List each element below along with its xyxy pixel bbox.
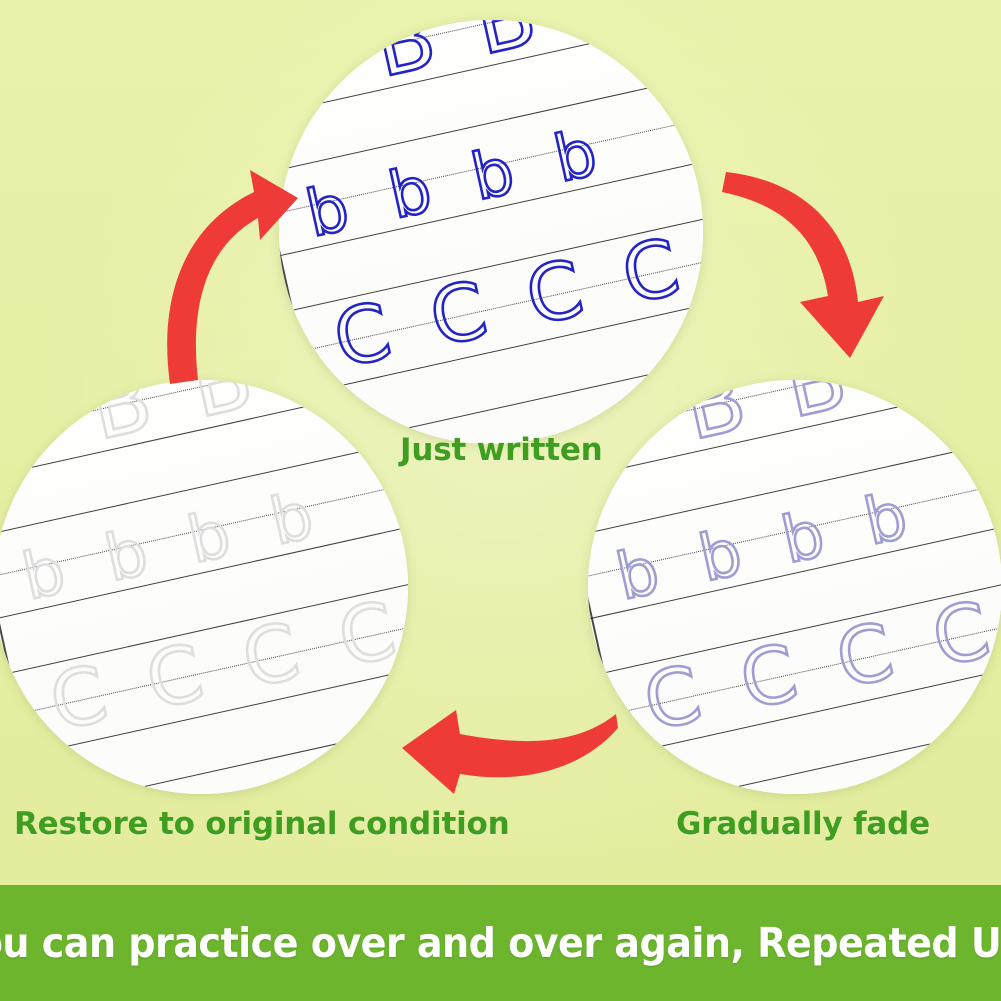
traced-letter-b: b	[384, 158, 438, 229]
photo-restore-original: BBBB bbbb CCCC	[0, 380, 408, 794]
infographic-root: BBBB bbbb CCCC BBBB bbbb CCCC	[0, 0, 1001, 1001]
traced-letter-B: B	[468, 20, 544, 68]
traced-letter-b: b	[100, 521, 154, 592]
traced-letter-b: b	[611, 539, 665, 610]
traced-letter-B: B	[367, 20, 443, 91]
traced-letter-C: C	[830, 613, 900, 701]
arrow-fade-to-restore-icon	[390, 702, 620, 792]
arrow-written-to-fade-icon	[722, 160, 902, 390]
caption-gradually-fade: Gradually fade	[676, 806, 930, 842]
traced-letter-C: C	[734, 634, 804, 722]
caption-restore-to-original-condition: Restore to original condition	[14, 806, 509, 842]
practice-paper-gradually-fade: BBBB bbbb CCCC	[588, 380, 1001, 794]
traced-letter-B: B	[568, 20, 644, 46]
traced-letter-B: B	[83, 380, 159, 453]
traced-letter-b: b	[467, 140, 521, 211]
arrow-restore-to-written-icon	[132, 148, 302, 388]
banner-text: You can practice over and over again, Re…	[0, 919, 1001, 967]
traced-letter-C: C	[616, 229, 686, 317]
traced-letter-b: b	[776, 502, 830, 573]
traced-letter-C: C	[520, 250, 590, 338]
traced-letter-B: B	[279, 20, 343, 113]
traced-letter-b: b	[859, 484, 913, 555]
practice-paper-restore-original: BBBB bbbb CCCC	[0, 380, 408, 794]
traced-letter-b: b	[182, 502, 236, 573]
traced-letter-C: C	[236, 613, 306, 701]
traced-letter-C: C	[44, 655, 114, 743]
traced-letter-b: b	[265, 484, 319, 555]
traced-letter-C: C	[638, 655, 708, 743]
traced-letter-B: B	[0, 380, 59, 476]
caption-just-written: Just written	[400, 432, 603, 468]
photo-gradually-fade: BBBB bbbb CCCC	[588, 380, 1001, 794]
traced-letter-b: b	[549, 122, 603, 193]
bottom-banner: You can practice over and over again, Re…	[0, 885, 1001, 1001]
traced-letter-C: C	[328, 293, 398, 381]
traced-letter-C: C	[332, 591, 402, 679]
traced-letter-b: b	[301, 177, 355, 248]
traced-letter-C: C	[424, 271, 494, 359]
traced-letter-C: C	[926, 591, 996, 679]
traced-letter-C: C	[140, 634, 210, 722]
traced-letter-b: b	[694, 521, 748, 592]
traced-letter-b: b	[17, 539, 71, 610]
traced-letter-B: B	[677, 380, 753, 453]
